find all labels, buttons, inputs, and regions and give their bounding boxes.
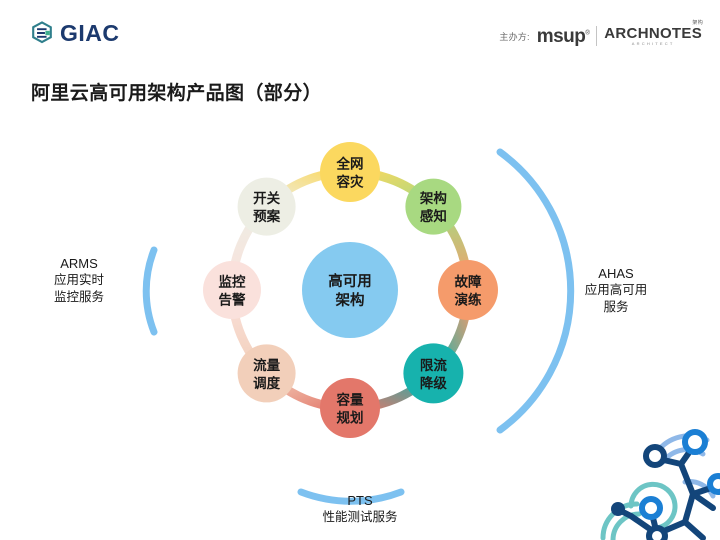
node-label-line1: 全网 bbox=[336, 156, 364, 172]
caption-ahas-en: AHAS bbox=[556, 265, 676, 282]
node-label-line1: 开关 bbox=[253, 190, 280, 206]
node-label-line2: 容灾 bbox=[336, 174, 364, 190]
sponsor-block: 主办方: msup® ARCHNOTES 架构 ARCHITECT bbox=[499, 26, 702, 46]
slide-canvas: GIAC 主办方: msup® ARCHNOTES 架构 ARCHITECT 阿… bbox=[0, 0, 720, 540]
center-label-line2: 架构 bbox=[335, 291, 365, 309]
node-label-line2: 告警 bbox=[219, 292, 246, 308]
node-jiagou-ganzhi[interactable]: 架构 感知 bbox=[405, 179, 461, 235]
node-xianliu-jiangji[interactable]: 限流 降级 bbox=[403, 343, 463, 403]
center-label-line1: 高可用 bbox=[328, 272, 372, 290]
caption-pts-en: PTS bbox=[275, 492, 445, 509]
giac-hexagon-icon bbox=[30, 20, 56, 46]
caption-arms-en: ARMS bbox=[24, 255, 134, 272]
node-label-line2: 感知 bbox=[420, 208, 447, 224]
node-label-line2: 规划 bbox=[337, 410, 364, 426]
node-label-line1: 容量 bbox=[336, 392, 364, 408]
node-label-line2: 降级 bbox=[420, 375, 447, 391]
caption-arms-cn2: 监控服务 bbox=[24, 289, 134, 306]
archnotes-cn: 架构 bbox=[692, 21, 703, 26]
node-label-line2: 预案 bbox=[253, 208, 280, 224]
msup-logo: msup® bbox=[537, 27, 590, 46]
archnotes-subtitle: ARCHITECT bbox=[632, 42, 675, 46]
node-label-line1: 监控 bbox=[219, 274, 246, 290]
caption-arms-cn1: 应用实时 bbox=[24, 272, 134, 289]
node-label-line1: 故障 bbox=[455, 274, 482, 290]
node-kaiguan-yuan[interactable]: 开关 预案 bbox=[238, 178, 296, 236]
network-nodes-decoration bbox=[585, 410, 720, 540]
caption-ahas: AHAS 应用高可用 服务 bbox=[556, 265, 676, 315]
bracket-left-arms bbox=[146, 250, 154, 332]
node-quanwang-rongzai[interactable]: 全网 容灾 bbox=[320, 142, 380, 202]
sponsor-divider bbox=[596, 26, 597, 46]
caption-pts-cn1: 性能测试服务 bbox=[275, 509, 445, 526]
node-label-line2: 演练 bbox=[455, 292, 482, 308]
center-node-high-availability-architecture[interactable]: 高可用 架构 bbox=[302, 242, 398, 338]
sponsor-label: 主办方: bbox=[499, 30, 529, 43]
giac-logo: GIAC bbox=[30, 20, 120, 46]
caption-ahas-cn2: 服务 bbox=[556, 299, 676, 316]
node-label-line2: 调度 bbox=[253, 375, 280, 391]
node-rongliang-guihua[interactable]: 容量 规划 bbox=[320, 378, 380, 438]
node-guzhang-yanlian[interactable]: 故障 演练 bbox=[438, 260, 498, 320]
caption-ahas-cn1: 应用高可用 bbox=[556, 282, 676, 299]
archnotes-logo: ARCHNOTES 架构 ARCHITECT bbox=[604, 26, 702, 46]
giac-wordmark: GIAC bbox=[60, 22, 120, 45]
node-liuliang-diaodu[interactable]: 流量 调度 bbox=[238, 344, 296, 402]
node-label-line1: 架构 bbox=[419, 190, 447, 206]
caption-pts: PTS 性能测试服务 bbox=[275, 492, 445, 526]
node-jiankong-gaojing[interactable]: 监控 告警 bbox=[203, 261, 261, 319]
node-label-line1: 限流 bbox=[420, 357, 447, 373]
archnotes-word: ARCHNOTES bbox=[604, 25, 702, 42]
caption-arms: ARMS 应用实时 监控服务 bbox=[24, 255, 134, 305]
node-label-line1: 流量 bbox=[253, 357, 280, 373]
page-title: 阿里云高可用架构产品图（部分） bbox=[31, 78, 322, 105]
